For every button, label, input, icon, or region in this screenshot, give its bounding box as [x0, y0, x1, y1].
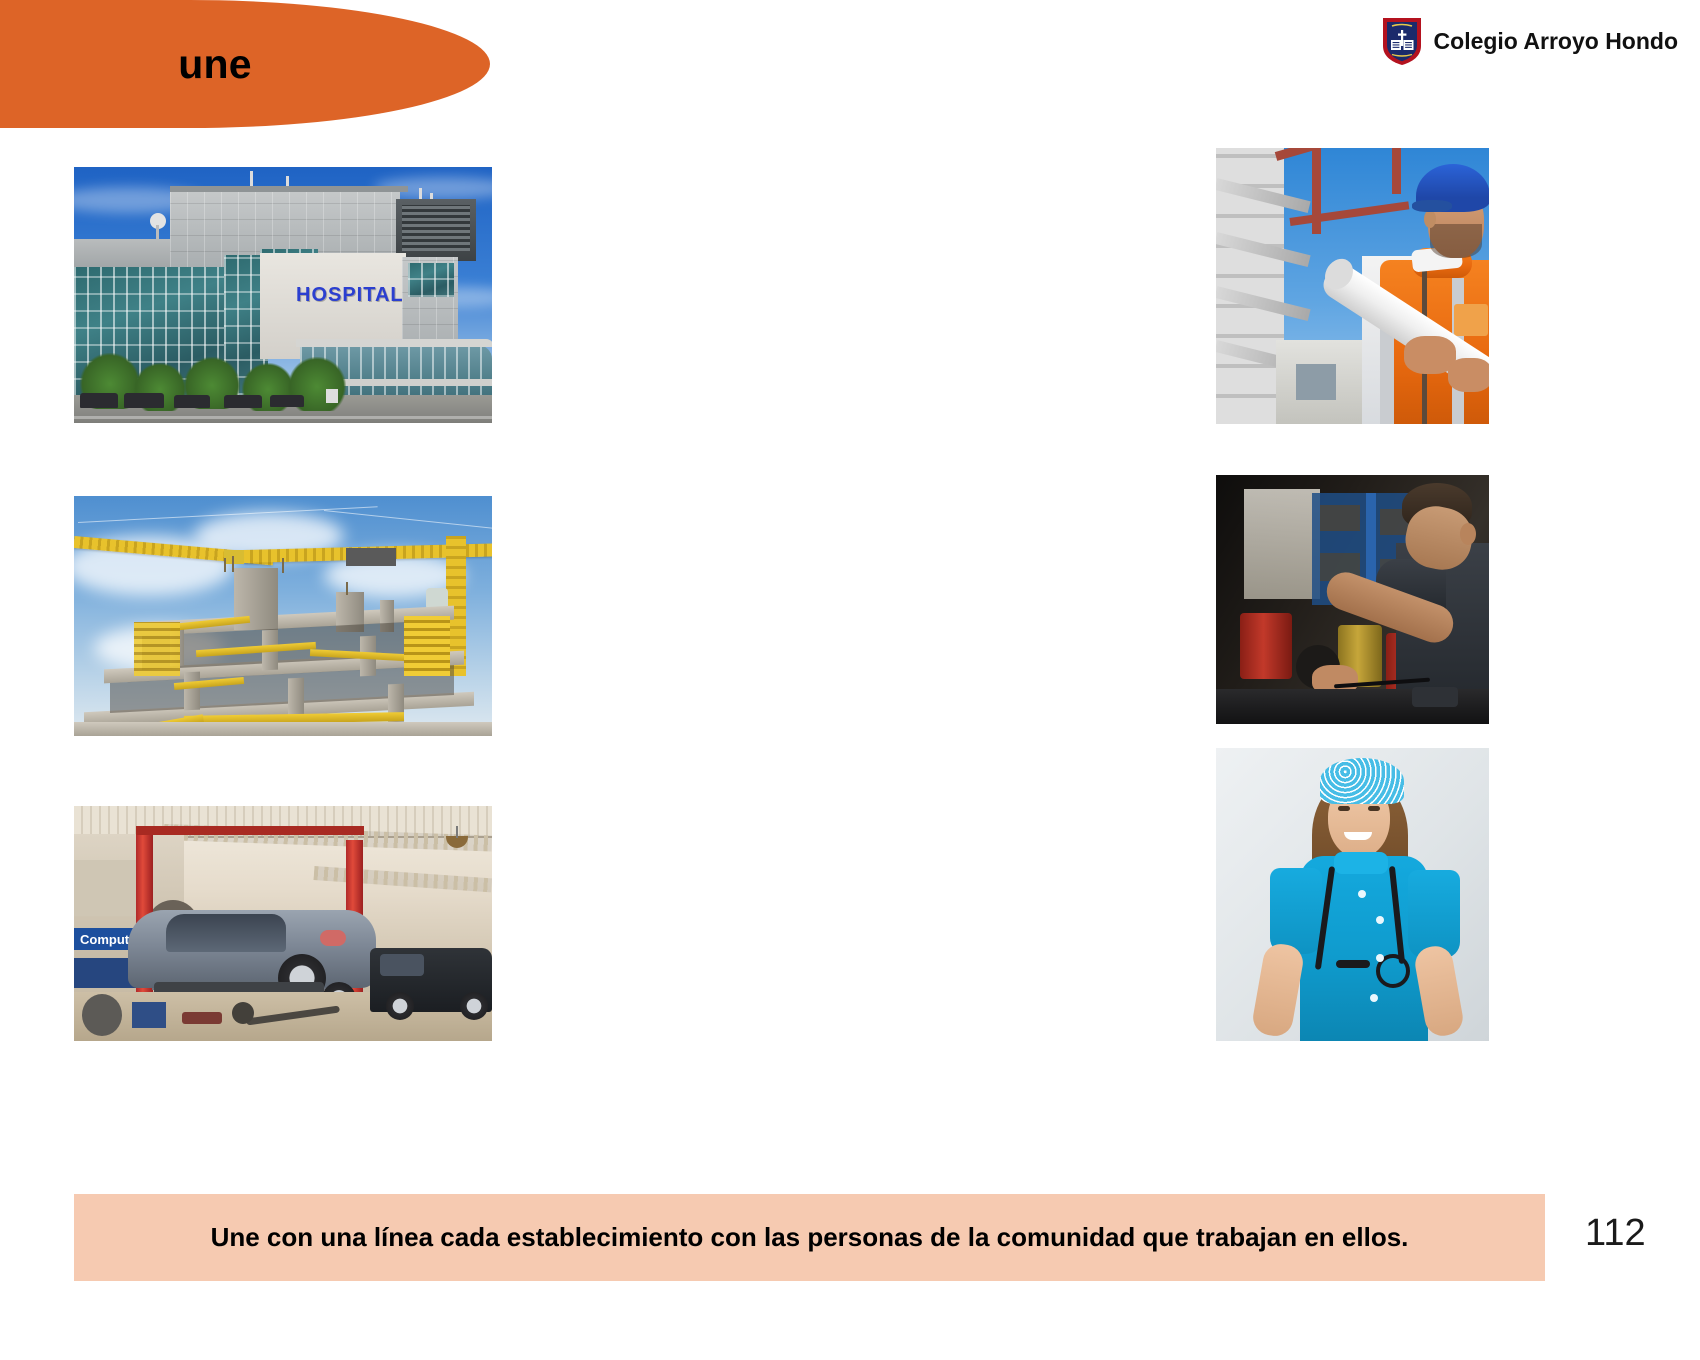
page-number: 112	[1585, 1212, 1646, 1255]
car-taillight	[320, 930, 346, 946]
lift-crossbeam	[136, 826, 364, 835]
scrub-button	[1370, 994, 1378, 1002]
red-drum	[1240, 613, 1292, 679]
hard-hat-brim	[1412, 200, 1452, 212]
ear	[1424, 210, 1436, 228]
parked-car	[270, 395, 304, 407]
scrub-collar	[1334, 852, 1388, 874]
garage-scene: Computar	[74, 806, 492, 1041]
page-title-banner: une	[0, 0, 490, 128]
floor-column	[288, 678, 304, 717]
engineer-scene	[1216, 148, 1489, 424]
page-title: une	[178, 41, 252, 88]
nurse-eye	[1368, 806, 1380, 811]
engineer-photo[interactable]	[1216, 148, 1489, 424]
crane-counter-jib	[346, 548, 396, 566]
truck-wheel	[386, 992, 414, 1020]
construction-site-photo[interactable]	[74, 496, 492, 736]
scrub-button	[1376, 916, 1384, 924]
engineer-hand	[1448, 358, 1489, 392]
parked-car	[80, 393, 118, 408]
rebar-stubs	[282, 558, 284, 573]
yellow-formwork-stack	[404, 616, 450, 676]
truck-wheel	[460, 992, 488, 1020]
hospital-building-photo[interactable]: HOSPITAL	[74, 167, 492, 423]
roof-edge	[170, 186, 408, 192]
parked-car	[124, 393, 164, 408]
mechanic-scene	[1216, 475, 1489, 724]
beard	[1430, 224, 1482, 258]
right-glass-band	[408, 263, 454, 297]
lower-building-window	[1296, 364, 1336, 400]
construction-scene	[74, 496, 492, 736]
parked-car	[224, 395, 262, 408]
nurse-sleeve	[1270, 868, 1322, 954]
nurse-photo[interactable]	[1216, 748, 1489, 1041]
penthouse-louvers	[402, 205, 470, 251]
floor-jack	[182, 1012, 222, 1024]
tire-on-floor	[82, 994, 122, 1036]
hospital-sign-text: HOSPITAL	[296, 284, 404, 307]
pavilion-canopy	[296, 339, 492, 347]
auto-repair-shop-photo[interactable]: Computar	[74, 806, 492, 1041]
light-cord	[456, 826, 458, 838]
diagnostic-tool	[1412, 687, 1458, 707]
nurse-scene	[1216, 748, 1489, 1041]
vest-pocket	[1454, 304, 1488, 336]
steel-column	[1312, 148, 1321, 234]
car-window	[166, 914, 286, 952]
nurse-eye	[1338, 806, 1350, 811]
nurse-sleeve	[1408, 870, 1460, 958]
school-crest-icon	[1381, 16, 1423, 66]
steel-column	[1392, 148, 1401, 194]
parking-sign	[326, 389, 338, 403]
yellow-formwork-stack	[134, 622, 180, 676]
scrub-button	[1376, 954, 1384, 962]
workshop-window	[1244, 489, 1320, 599]
crane-trolley	[224, 550, 244, 564]
ear	[1460, 523, 1476, 545]
mechanic-photo[interactable]	[1216, 475, 1489, 724]
brake-disc-part	[232, 1002, 254, 1024]
tool-trolley	[132, 1002, 166, 1028]
lower-structure	[74, 722, 492, 736]
instruction-bar: Une con una línea cada establecimiento c…	[74, 1194, 1545, 1281]
school-brand: Colegio Arroyo Hondo	[1381, 16, 1678, 66]
surgical-cap	[1320, 758, 1404, 804]
rebar-stubs	[346, 582, 348, 595]
rebar-stubs	[232, 556, 234, 572]
floor-column	[184, 672, 200, 711]
scrub-button	[1358, 890, 1366, 898]
school-name-label: Colegio Arroyo Hondo	[1434, 28, 1678, 55]
nurse-smile	[1344, 832, 1372, 840]
hospital-scene: HOSPITAL	[74, 167, 492, 423]
parked-car	[174, 395, 210, 408]
stethoscope-connector	[1336, 960, 1370, 968]
truck-window	[380, 954, 424, 976]
rebar-stubs	[224, 558, 226, 572]
instruction-text: Une con una línea cada establecimiento c…	[211, 1220, 1409, 1254]
shelf-contents	[1320, 505, 1360, 531]
road-marking	[74, 416, 492, 419]
